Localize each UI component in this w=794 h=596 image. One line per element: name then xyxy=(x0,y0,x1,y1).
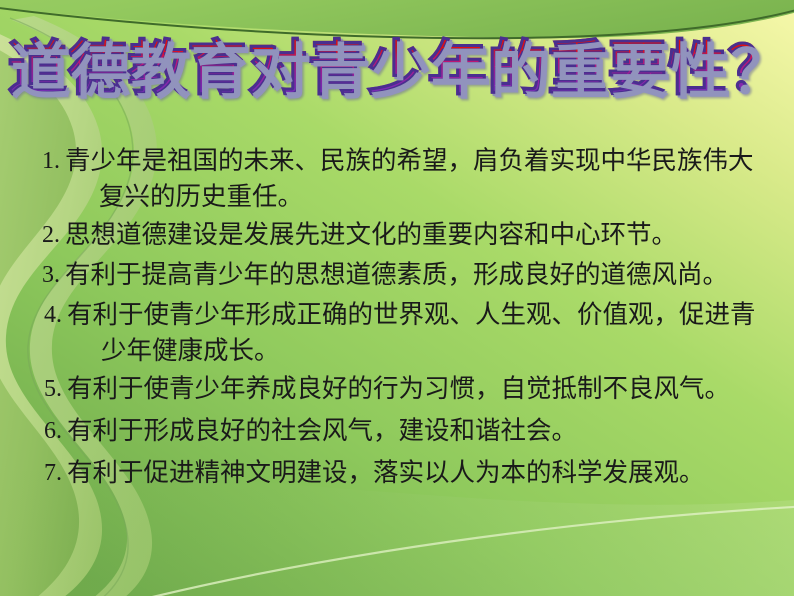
list-item: 3. 有利于提高青少年的思想道德素质，形成良好的道德风尚。 xyxy=(0,257,794,293)
list-item: 1. 青少年是祖国的未来、民族的希望，肩负着实现中华民族伟大 复兴的历史重任。 xyxy=(0,143,794,215)
bullet-list: 1. 青少年是祖国的未来、民族的希望，肩负着实现中华民族伟大 复兴的历史重任。 … xyxy=(0,143,794,497)
list-item: 5. 有利于使青少年养成良好的行为习惯，自觉抵制不良风气。 xyxy=(0,371,794,407)
list-item-text: 有利于形成良好的社会风气，建设和谐社会。 xyxy=(62,413,784,449)
list-item-text: 有利于促进精神文明建设，落实以人为本的科学发展观。 xyxy=(62,455,784,491)
list-item-number: 1. xyxy=(26,143,60,179)
list-item: 6. 有利于形成良好的社会风气，建设和谐社会。 xyxy=(0,413,794,449)
list-item-line: 有利于提高青少年的思想道德素质，形成良好的道德风尚。 xyxy=(65,260,728,289)
list-item-line: 少年健康成长。 xyxy=(67,333,784,369)
list-item-line: 思想道德建设是发展先进文化的重要内容和中心环节。 xyxy=(65,220,677,249)
list-item-line: 有利于形成良好的社会风气，建设和谐社会。 xyxy=(67,416,577,445)
slide-title-text: 道德教育对青少年的重要性？ xyxy=(7,38,787,101)
presentation-slide: 道德教育对青少年的重要性？ 道德教育对青少年的重要性？ 1. 青少年是祖国的未来… xyxy=(0,0,794,596)
list-item-text: 有利于使青少年形成正确的世界观、人生观、价值观，促进青 少年健康成长。 xyxy=(62,297,784,369)
list-item-line: 有利于使青少年形成正确的世界观、人生观、价值观，促进青 xyxy=(67,300,756,329)
list-item-text: 思想道德建设是发展先进文化的重要内容和中心环节。 xyxy=(60,217,784,253)
list-item-number: 5. xyxy=(28,371,62,407)
list-item-text: 青少年是祖国的未来、民族的希望，肩负着实现中华民族伟大 复兴的历史重任。 xyxy=(60,143,784,215)
slide-title: 道德教育对青少年的重要性？ 道德教育对青少年的重要性？ xyxy=(0,38,794,101)
list-item: 4. 有利于使青少年形成正确的世界观、人生观、价值观，促进青 少年健康成长。 xyxy=(0,297,794,369)
list-item-line: 青少年是祖国的未来、民族的希望，肩负着实现中华民族伟大 xyxy=(65,146,754,175)
list-item-number: 2. xyxy=(26,217,60,253)
list-item-line: 有利于促进精神文明建设，落实以人为本的科学发展观。 xyxy=(67,458,705,487)
list-item: 2. 思想道德建设是发展先进文化的重要内容和中心环节。 xyxy=(0,217,794,253)
list-item-number: 7. xyxy=(28,455,62,491)
list-item-text: 有利于使青少年养成良好的行为习惯，自觉抵制不良风气。 xyxy=(62,371,784,407)
list-item: 7. 有利于促进精神文明建设，落实以人为本的科学发展观。 xyxy=(0,455,794,491)
list-item-text: 有利于提高青少年的思想道德素质，形成良好的道德风尚。 xyxy=(60,257,784,293)
list-item-line: 有利于使青少年养成良好的行为习惯，自觉抵制不良风气。 xyxy=(67,374,730,403)
list-item-number: 6. xyxy=(28,413,62,449)
list-item-number: 4. xyxy=(28,297,62,333)
list-item-number: 3. xyxy=(26,257,60,293)
list-item-line: 复兴的历史重任。 xyxy=(65,179,784,215)
